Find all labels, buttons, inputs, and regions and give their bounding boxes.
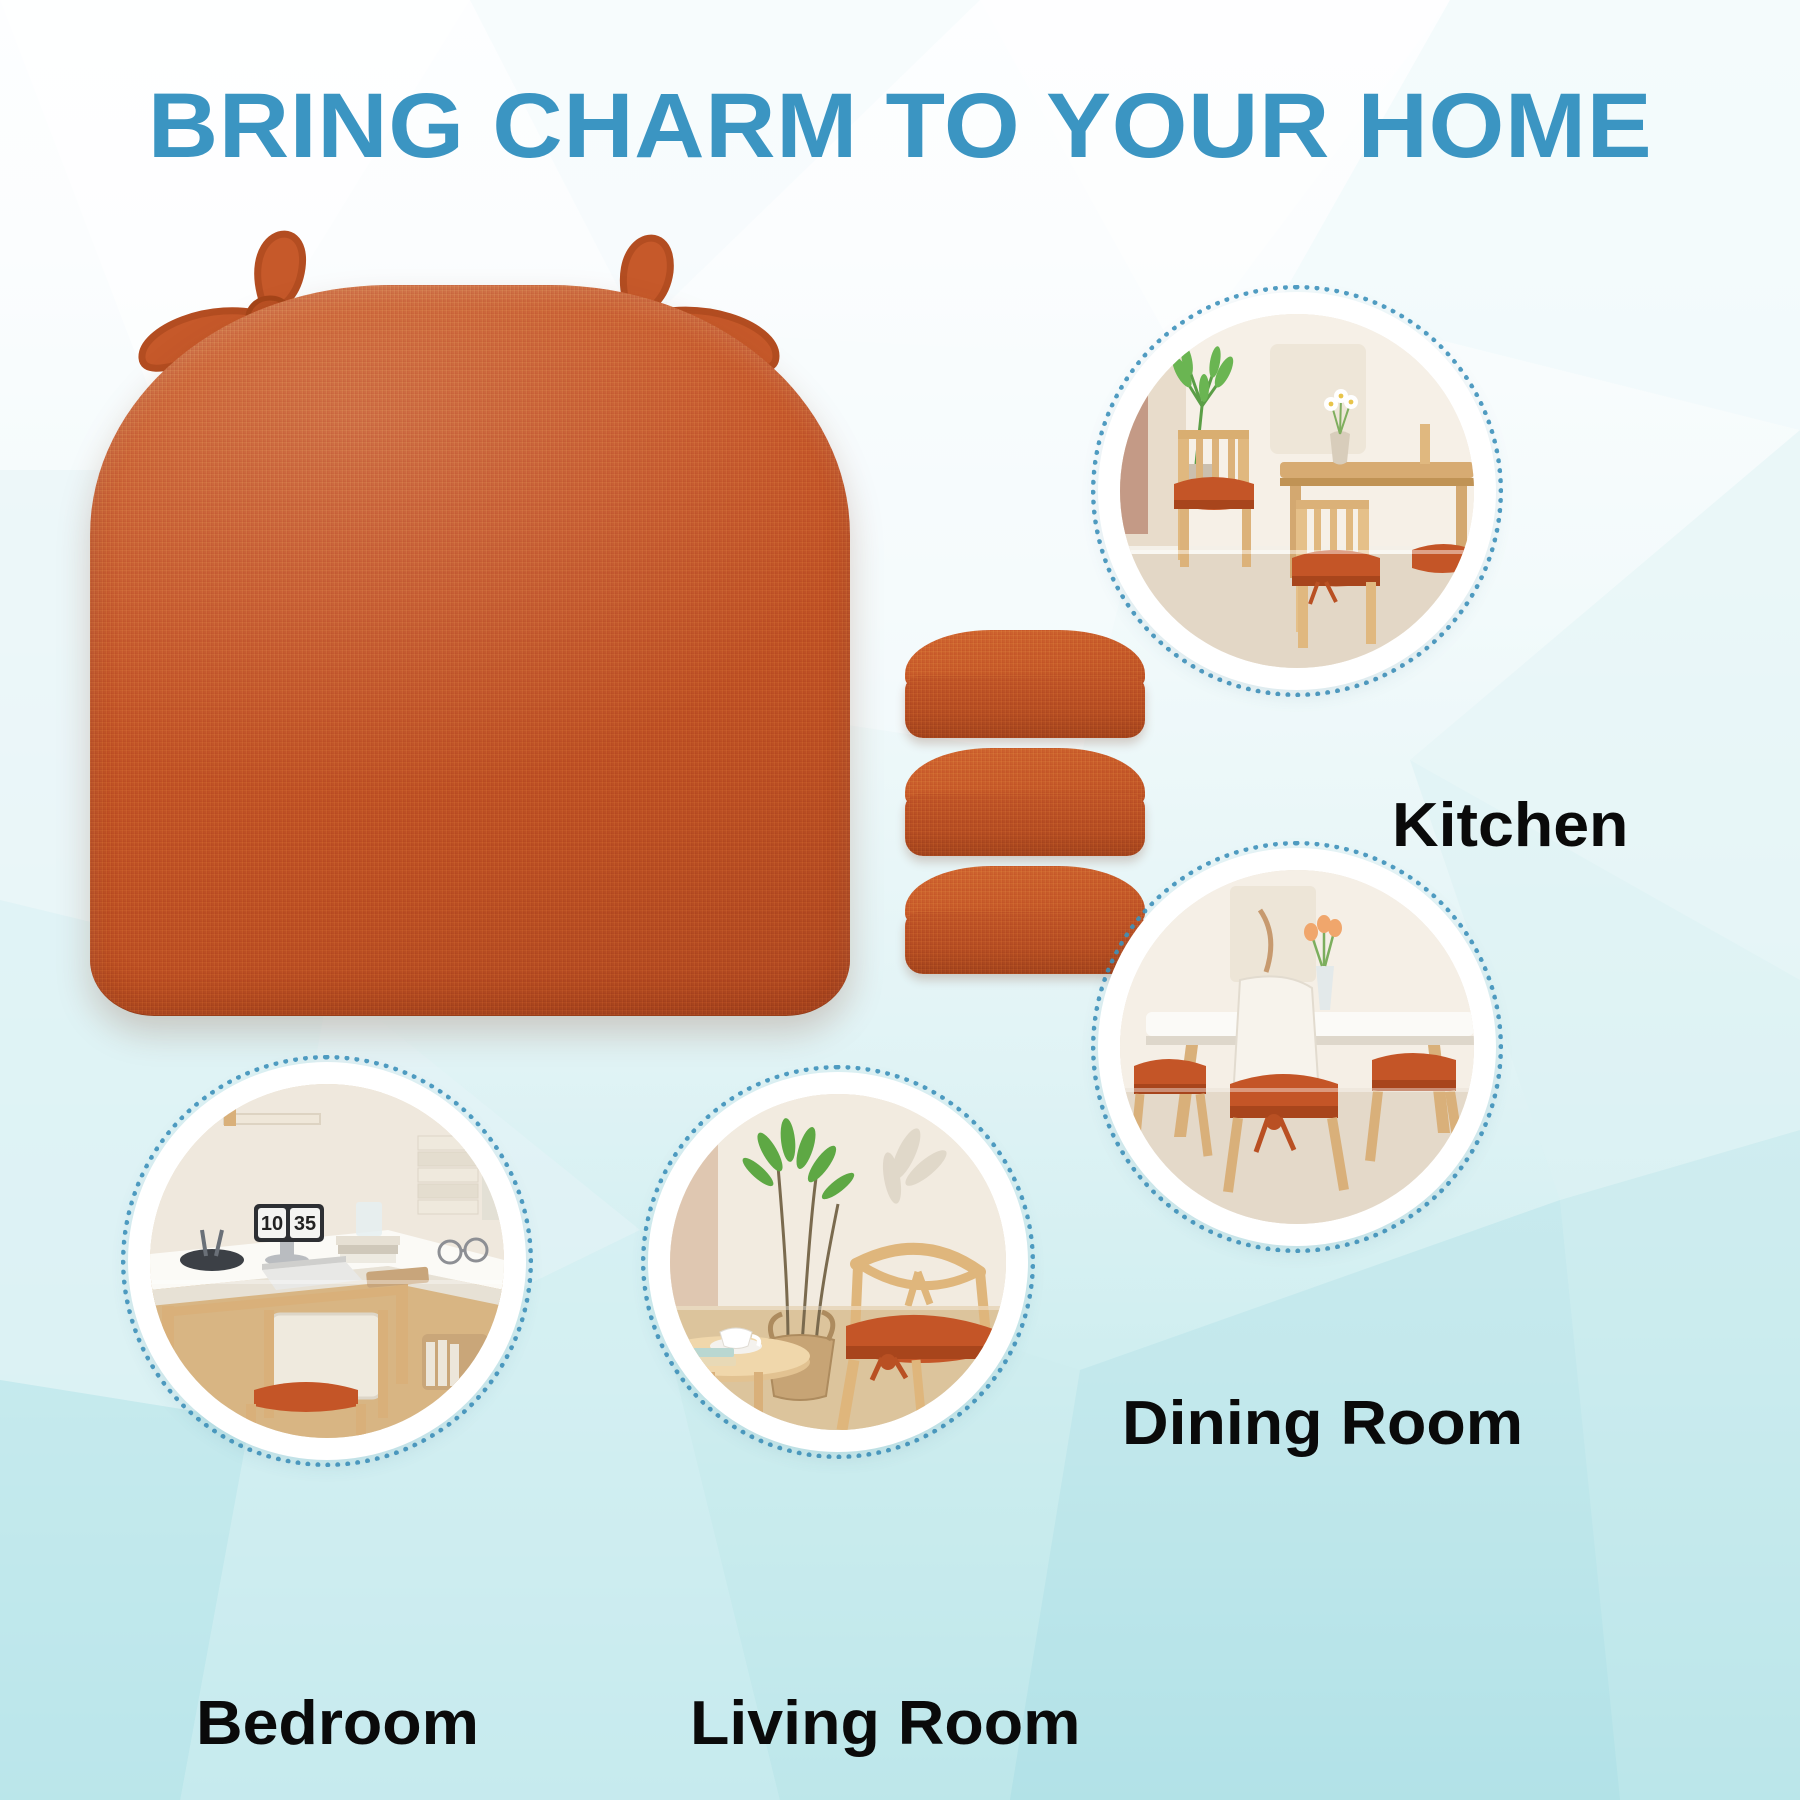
scene-photo-living-room[interactable] [648, 1072, 1028, 1452]
clock-minute: 35 [294, 1213, 316, 1235]
scene-image-living-room [670, 1094, 1006, 1430]
cushion-front-face [90, 285, 850, 1015]
scene-image-dining-room [1120, 870, 1474, 1224]
clock-hour: 10 [261, 1213, 283, 1235]
marketing-image: BRING CHARM TO YOUR HOME [0, 0, 1800, 1800]
scene-photo-kitchen[interactable] [1098, 292, 1496, 690]
caption-kitchen: Kitchen [1392, 790, 1628, 861]
hero-product [60, 190, 1080, 1050]
page-title: BRING CHARM TO YOUR HOME [0, 74, 1800, 179]
scene-photo-dining-room[interactable] [1098, 848, 1496, 1246]
scene-photo-bedroom[interactable]: 10 35 [128, 1062, 526, 1460]
scene-image-kitchen [1120, 314, 1474, 668]
caption-dining-room: Dining Room [1122, 1388, 1523, 1459]
caption-bedroom: Bedroom [196, 1688, 479, 1759]
scene-image-bedroom: 10 35 [150, 1084, 504, 1438]
caption-living-room: Living Room [690, 1688, 1080, 1759]
